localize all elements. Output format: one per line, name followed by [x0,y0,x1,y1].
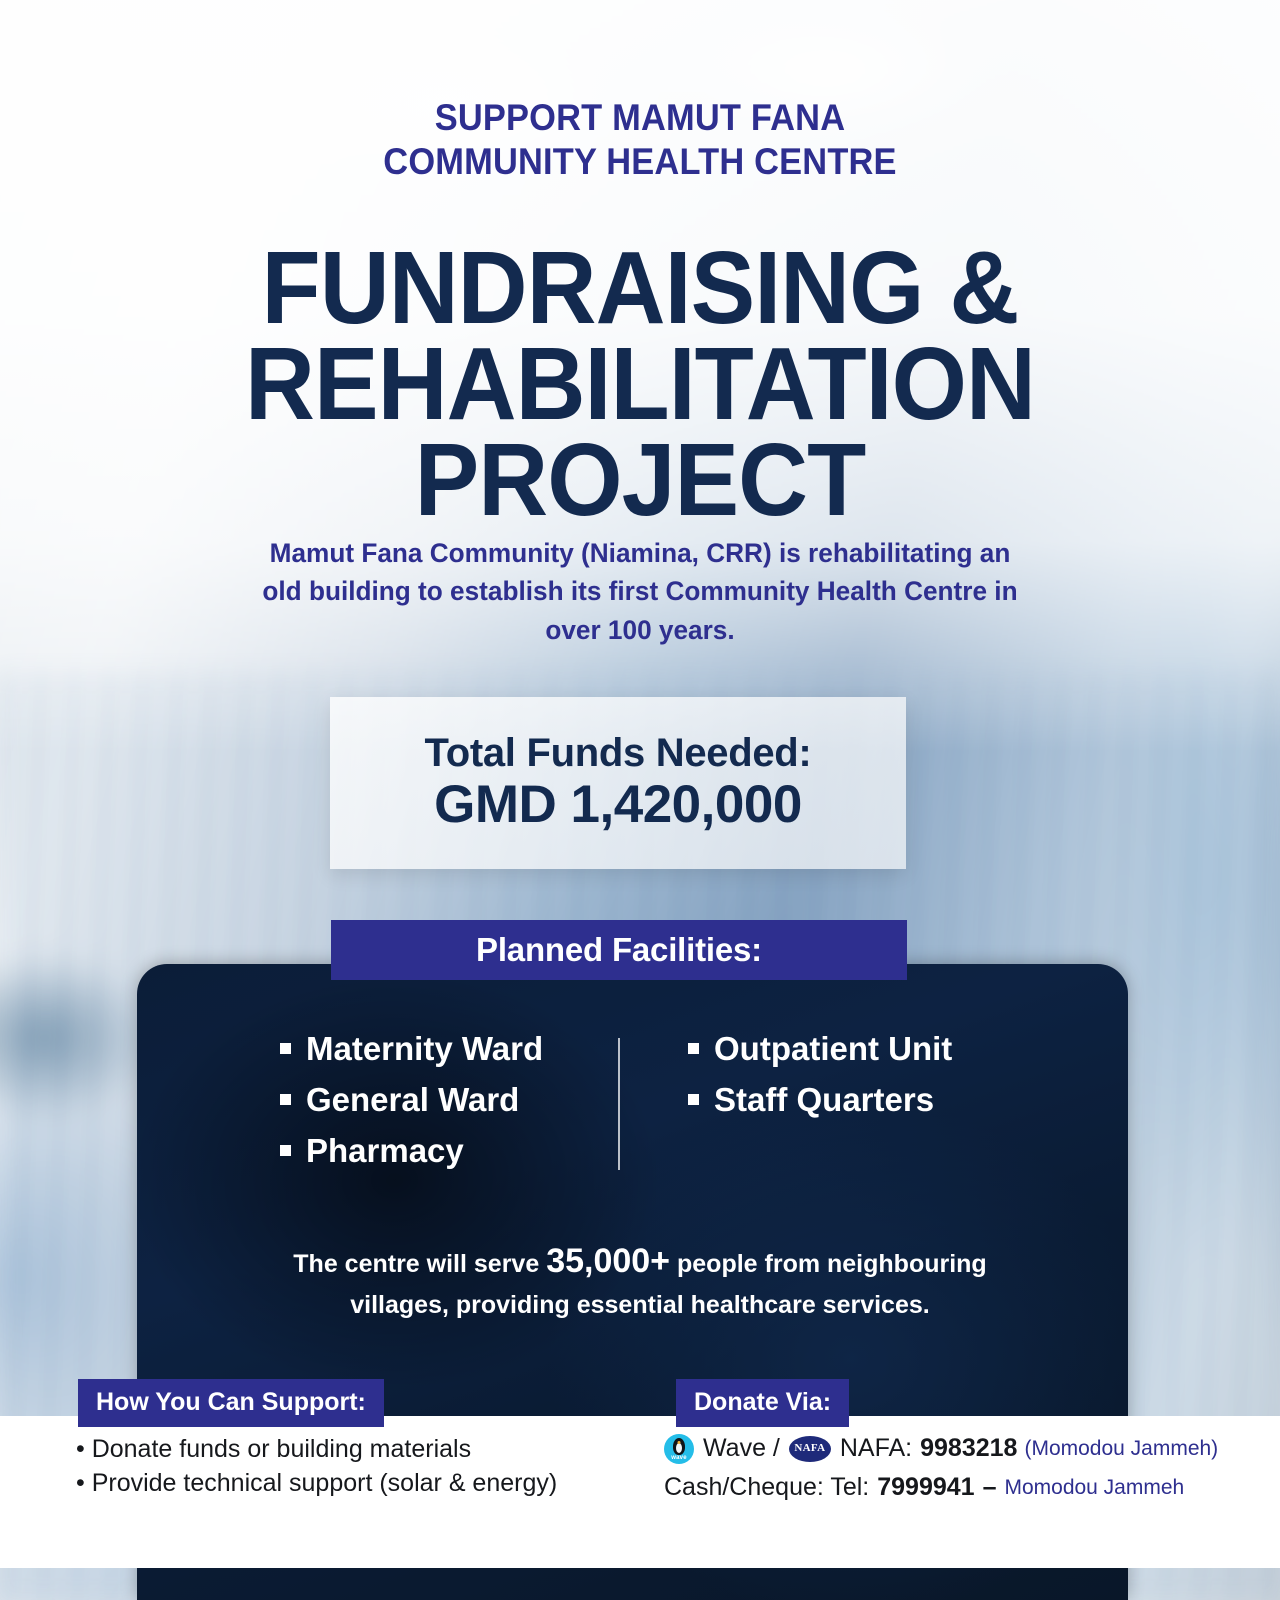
facilities-column-left: Maternity Ward General Ward Pharmacy [280,1032,630,1185]
facility-label: Outpatient Unit [714,1032,952,1065]
support-option-item: • Donate funds or building materials [76,1432,636,1466]
donate-row-cash-cheque: Cash/Cheque: Tel: 7999941 – Momodou Jamm… [664,1471,1224,1504]
facility-label: General Ward [306,1083,519,1116]
square-bullet-icon [688,1094,699,1105]
nafa-label: NAFA: [840,1432,912,1465]
planned-facilities-list: Maternity Ward General Ward Pharmacy Out… [280,1032,1000,1185]
penguin-belly-shape [676,1443,682,1453]
planned-facilities-banner: Planned Facilities: [331,920,907,980]
facilities-column-divider [618,1038,620,1170]
donate-details: wave Wave / NAFA NAFA: 9983218 (Momodou … [664,1432,1224,1504]
cash-phone-number: 7999941 [877,1471,974,1504]
facility-label: Pharmacy [306,1134,464,1167]
donate-via-tag: Donate Via: [676,1379,849,1427]
headline-line-2: REHABILITATION [38,336,1241,432]
serve-statement: The centre will serve 35,000+ people fro… [230,1236,1050,1325]
serve-line-2: villages, providing essential healthcare… [230,1287,1050,1325]
square-bullet-icon [280,1043,291,1054]
wave-logo-icon: wave [664,1434,694,1464]
penguin-beak-shape [678,1441,681,1444]
total-funds-box: Total Funds Needed: GMD 1,420,000 [330,697,906,869]
poster-lede-paragraph: Mamut Fana Community (Niamina, CRR) is r… [248,534,1032,649]
wave-wordmark: wave [664,1455,694,1463]
facility-item: General Ward [280,1083,630,1116]
square-bullet-icon [280,1145,291,1156]
facilities-column-right: Outpatient Unit Staff Quarters [630,1032,980,1185]
facility-item: Outpatient Unit [688,1032,980,1065]
nafa-account-holder: (Momodou Jammeh) [1024,1435,1218,1463]
facility-item: Maternity Ward [280,1032,630,1065]
serve-suffix: people from neighbouring [677,1250,987,1278]
funds-needed-label: Total Funds Needed: [425,732,812,774]
headline-line-1: FUNDRAISING & [38,240,1241,336]
serve-prefix: The centre will serve [293,1250,539,1278]
serve-count: 35,000+ [546,1242,670,1280]
support-options-list: • Donate funds or building materials • P… [76,1432,636,1500]
cash-contact-name: Momodou Jammeh [1004,1474,1184,1502]
facility-label: Staff Quarters [714,1083,934,1116]
nafa-phone-number: 9983218 [920,1432,1017,1465]
facility-label: Maternity Ward [306,1032,543,1065]
poster-headline: FUNDRAISING & REHABILITATION PROJECT [38,240,1241,527]
square-bullet-icon [280,1094,291,1105]
wave-label: Wave / [703,1432,780,1465]
poster-eyebrow: SUPPORT MAMUT FANA COMMUNITY HEALTH CENT… [45,96,1235,183]
cash-cheque-label: Cash/Cheque: Tel: [664,1471,869,1504]
support-option-item: • Provide technical support (solar & ene… [76,1466,636,1500]
poster-canvas: SUPPORT MAMUT FANA COMMUNITY HEALTH CENT… [0,0,1280,1600]
square-bullet-icon [688,1043,699,1054]
eyebrow-line-1: SUPPORT MAMUT FANA [45,96,1235,140]
donate-row-mobile-money: wave Wave / NAFA NAFA: 9983218 (Momodou … [664,1432,1224,1465]
headline-line-3: PROJECT [38,432,1241,528]
eyebrow-line-2: COMMUNITY HEALTH CENTRE [45,140,1235,184]
cash-dash-separator: – [983,1471,997,1504]
facility-item: Staff Quarters [688,1083,980,1116]
how-you-can-support-tag: How You Can Support: [78,1379,384,1427]
nafa-logo-icon: NAFA [789,1436,831,1462]
funds-needed-amount: GMD 1,420,000 [434,776,802,834]
facility-item: Pharmacy [280,1134,630,1167]
